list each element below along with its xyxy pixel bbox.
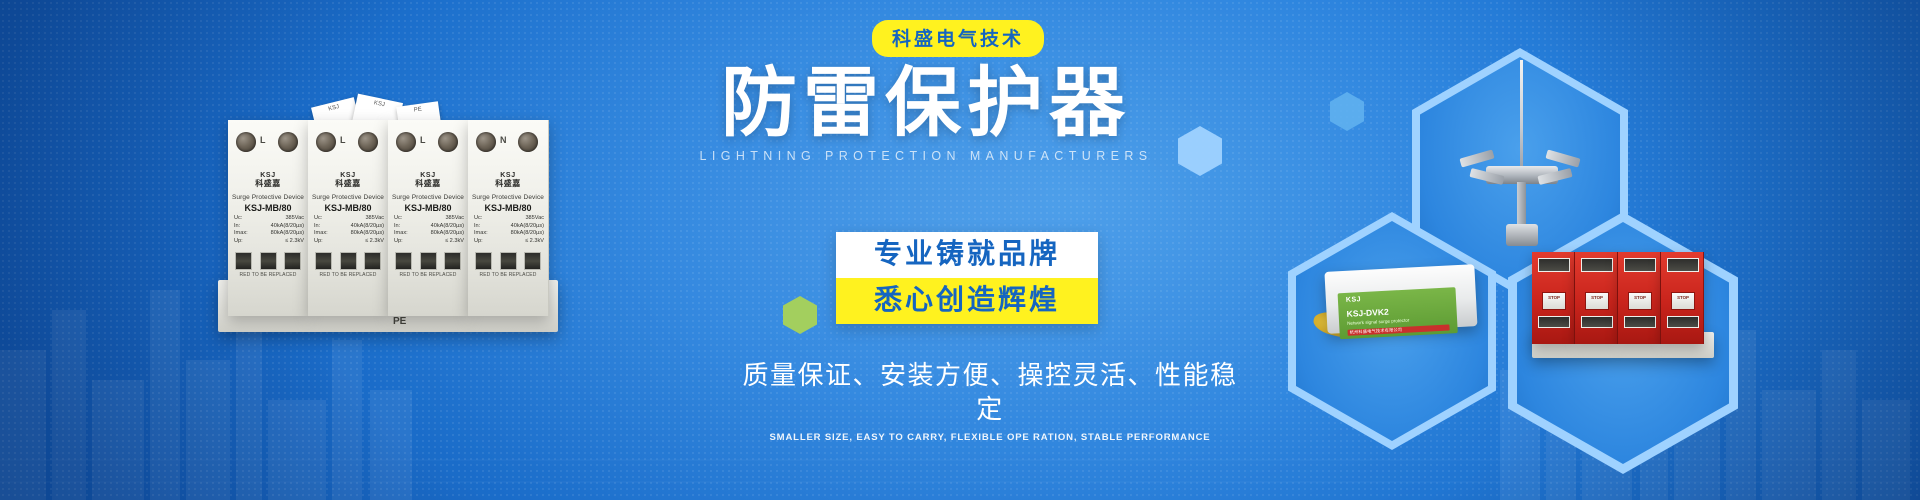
features-block: 质量保证、安装方便、操控灵活、性能稳定 SMALLER SIZE, EASY T… — [740, 358, 1240, 443]
module-band-text: 杭州科盛电气技术有限公司 — [1349, 327, 1402, 336]
spec-value: 385Vac — [445, 215, 464, 223]
device-specs: Uc:385Vac In:40kA(8/20µs) Imax:80kA(8/20… — [234, 215, 304, 245]
device-specs: Uc:385Vac In:40kA(8/20µs) Imax:80kA(8/20… — [314, 215, 384, 245]
features-text-en: SMALLER SIZE, EASY TO CARRY, FLEXIBLE OP… — [740, 432, 1240, 443]
indicator-window — [284, 252, 301, 270]
indicator-window — [315, 252, 332, 270]
spec-value: 40kA(8/20µs) — [431, 223, 464, 231]
brand-en-text: KSJ — [474, 172, 542, 179]
wire-tag-text: KSJ — [311, 97, 357, 120]
spec-value: ≤ 2.3kV — [285, 238, 304, 246]
indicator-window — [475, 252, 492, 270]
brand-en-text: KSJ — [314, 172, 382, 179]
module-faceplate: KSJ KSJ-DVK2 Network signal surge protec… — [1338, 287, 1458, 339]
hexagon-accent-green — [783, 296, 817, 334]
brand-cn-text: 科盛嘉 — [394, 179, 462, 188]
hexagon-product-group: KSJ KSJ-DVK2 Network signal surge protec… — [1300, 40, 1900, 460]
device-model-text: KSJ-MB/80 — [470, 203, 546, 213]
terminal-screw-icon — [316, 132, 336, 152]
device-model-text: KSJ-MB/80 — [310, 203, 386, 213]
red-surge-protector: STOP STOP STOP STOP — [1532, 252, 1714, 364]
spec-value: 80kA(8/20µs) — [431, 230, 464, 238]
wire-tag-text: KSJ — [355, 94, 403, 116]
terminal-screw-icon — [396, 132, 416, 152]
indicator-window — [340, 252, 357, 270]
page-title: 防雷保护器 — [576, 63, 1276, 145]
lightning-rod-icon — [1468, 60, 1576, 270]
terminal-screw-icon — [236, 132, 256, 152]
terminal-slot — [1667, 258, 1699, 272]
spec-value: 40kA(8/20µs) — [351, 223, 384, 231]
terminal-block: L — [234, 132, 302, 162]
indicator-window — [500, 252, 517, 270]
spec-value: 385Vac — [525, 215, 544, 223]
brand-en-text: KSJ — [394, 172, 462, 179]
spec-value: 40kA(8/20µs) — [271, 223, 304, 231]
product-brand: KSJ 科盛嘉 — [394, 172, 462, 188]
spec-key: Up: — [474, 238, 483, 246]
spec-key: Imax: — [314, 230, 328, 238]
spec-key: Uc: — [394, 215, 402, 223]
headline-block: 科盛电气技术 防雷保护器 LIGHTNING PROTECTION MANUFA… — [576, 20, 1276, 163]
red-spd-pole: STOP — [1575, 252, 1618, 344]
product-brand: KSJ 科盛嘉 — [474, 172, 542, 188]
replace-note-text: RED TO BE REPLACED — [390, 272, 466, 278]
promo-banner: KSJ KSJ PE L KSJ 科盛嘉 Surge Protective De… — [0, 0, 1920, 500]
spec-value: 385Vac — [365, 215, 384, 223]
status-window-text: STOP — [1586, 295, 1608, 300]
brand-en-text: KSJ — [234, 172, 302, 179]
terminal-slot — [1624, 316, 1656, 328]
spec-key: Imax: — [394, 230, 408, 238]
terminal-slot — [1581, 316, 1613, 328]
indicator-window — [364, 252, 381, 270]
spec-key: Uc: — [474, 215, 482, 223]
spec-value: 385Vac — [285, 215, 304, 223]
spec-value: 80kA(8/20µs) — [511, 230, 544, 238]
red-spd-pole: STOP — [1532, 252, 1575, 344]
indicator-window — [420, 252, 437, 270]
status-window: STOP — [1671, 292, 1695, 310]
spec-value: ≤ 2.3kV — [445, 238, 464, 246]
terminal-slot — [1667, 316, 1699, 328]
terminal-block: L — [394, 132, 462, 162]
replace-note-text: RED TO BE REPLACED — [470, 272, 546, 278]
hexagon-decor-small — [1330, 92, 1364, 131]
indicator-window — [260, 252, 277, 270]
indicator-windows — [395, 252, 461, 268]
device-model-text: KSJ-MB/80 — [230, 203, 306, 213]
module-brand-text: KSJ — [1346, 296, 1361, 304]
spec-value: 40kA(8/20µs) — [511, 223, 544, 231]
indicator-windows — [475, 252, 541, 268]
red-spd-pole: STOP — [1618, 252, 1661, 344]
slogan-secondary: 悉心创造辉煌 — [836, 278, 1098, 324]
indicator-window — [395, 252, 412, 270]
terminal-slot — [1624, 258, 1656, 272]
red-spd-pole: STOP — [1661, 252, 1704, 344]
device-model-text: KSJ-MB/80 — [390, 203, 466, 213]
indicator-window — [524, 252, 541, 270]
subtitle-english: LIGHTNING PROTECTION MANUFACTURERS — [576, 149, 1276, 163]
brand-cn-text: 科盛嘉 — [234, 179, 302, 188]
spec-key: Imax: — [234, 230, 248, 238]
spd-pole: L KSJ 科盛嘉 Surge Protective Device KSJ-MB… — [388, 120, 469, 316]
rod-base — [1506, 224, 1538, 246]
terminal-slot — [1538, 316, 1570, 328]
brand-cn-text: 科盛嘉 — [474, 179, 542, 188]
terminal-screw-icon — [278, 132, 298, 152]
brand-cn-text: 科盛嘉 — [314, 179, 382, 188]
device-type-text: Surge Protective Device — [230, 194, 306, 201]
spec-value: ≤ 2.3kV — [525, 238, 544, 246]
terminal-screw-icon — [358, 132, 378, 152]
rod-spike — [1520, 60, 1523, 172]
status-window: STOP — [1542, 292, 1566, 310]
spec-value: ≤ 2.3kV — [365, 238, 384, 246]
terminal-label: L — [420, 135, 426, 145]
module-desc-text: Network signal surge protector — [1347, 318, 1410, 327]
replace-note-text: RED TO BE REPLACED — [230, 272, 306, 278]
product-brand: KSJ 科盛嘉 — [314, 172, 382, 188]
spec-key: Imax: — [474, 230, 488, 238]
spec-key: Up: — [234, 238, 243, 246]
signal-surge-module: KSJ KSJ-DVK2 Network signal surge protec… — [1324, 250, 1479, 350]
spec-key: In: — [314, 223, 320, 231]
device-type-text: Surge Protective Device — [470, 194, 546, 201]
pe-terminal-label: PE — [393, 316, 406, 327]
device-specs: Uc:385Vac In:40kA(8/20µs) Imax:80kA(8/20… — [394, 215, 464, 245]
slogan-block: 专业铸就品牌 悉心创造辉煌 — [836, 232, 1098, 324]
terminal-screw-icon — [438, 132, 458, 152]
company-badge: 科盛电气技术 — [872, 20, 1044, 57]
terminal-block: L — [314, 132, 382, 162]
spec-key: In: — [394, 223, 400, 231]
spec-key: Uc: — [234, 215, 242, 223]
terminal-label: L — [340, 135, 346, 145]
spd-pole: L KSJ 科盛嘉 Surge Protective Device KSJ-MB… — [228, 120, 309, 316]
status-window-text: STOP — [1629, 295, 1651, 300]
indicator-windows — [235, 252, 301, 268]
rod-stem — [1517, 182, 1526, 226]
device-specs: Uc:385Vac In:40kA(8/20µs) Imax:80kA(8/20… — [474, 215, 544, 245]
spd-pole: L KSJ 科盛嘉 Surge Protective Device KSJ-MB… — [308, 120, 389, 316]
terminal-screw-icon — [518, 132, 538, 152]
spd-pole: N KSJ 科盛嘉 Surge Protective Device KSJ-MB… — [468, 120, 549, 316]
status-window: STOP — [1628, 292, 1652, 310]
spec-value: 80kA(8/20µs) — [271, 230, 304, 238]
status-window: STOP — [1585, 292, 1609, 310]
product-brand: KSJ 科盛嘉 — [234, 172, 302, 188]
spec-key: Uc: — [314, 215, 322, 223]
terminal-slot — [1581, 258, 1613, 272]
status-window-text: STOP — [1543, 295, 1565, 300]
device-type-text: Surge Protective Device — [390, 194, 466, 201]
indicator-windows — [315, 252, 381, 268]
indicator-window — [444, 252, 461, 270]
module-model-text: KSJ-DVK2 — [1346, 307, 1389, 319]
product-photo-spd-4pole: KSJ KSJ PE L KSJ 科盛嘉 Surge Protective De… — [218, 120, 558, 338]
device-type-text: Surge Protective Device — [310, 194, 386, 201]
replace-note-text: RED TO BE REPLACED — [310, 272, 386, 278]
module-body: KSJ KSJ-DVK2 Network signal surge protec… — [1324, 264, 1477, 334]
status-window-text: STOP — [1672, 295, 1694, 300]
spec-key: In: — [474, 223, 480, 231]
spec-key: In: — [234, 223, 240, 231]
spec-key: Up: — [314, 238, 323, 246]
indicator-window — [235, 252, 252, 270]
terminal-label: N — [500, 135, 507, 145]
spec-key: Up: — [394, 238, 403, 246]
slogan-primary: 专业铸就品牌 — [836, 232, 1098, 278]
features-text-cn: 质量保证、安装方便、操控灵活、性能稳定 — [740, 358, 1240, 426]
terminal-slot — [1538, 258, 1570, 272]
terminal-block: N — [474, 132, 542, 162]
spec-value: 80kA(8/20µs) — [351, 230, 384, 238]
terminal-screw-icon — [476, 132, 496, 152]
terminal-label: L — [260, 135, 266, 145]
rod-fin — [1545, 149, 1580, 167]
